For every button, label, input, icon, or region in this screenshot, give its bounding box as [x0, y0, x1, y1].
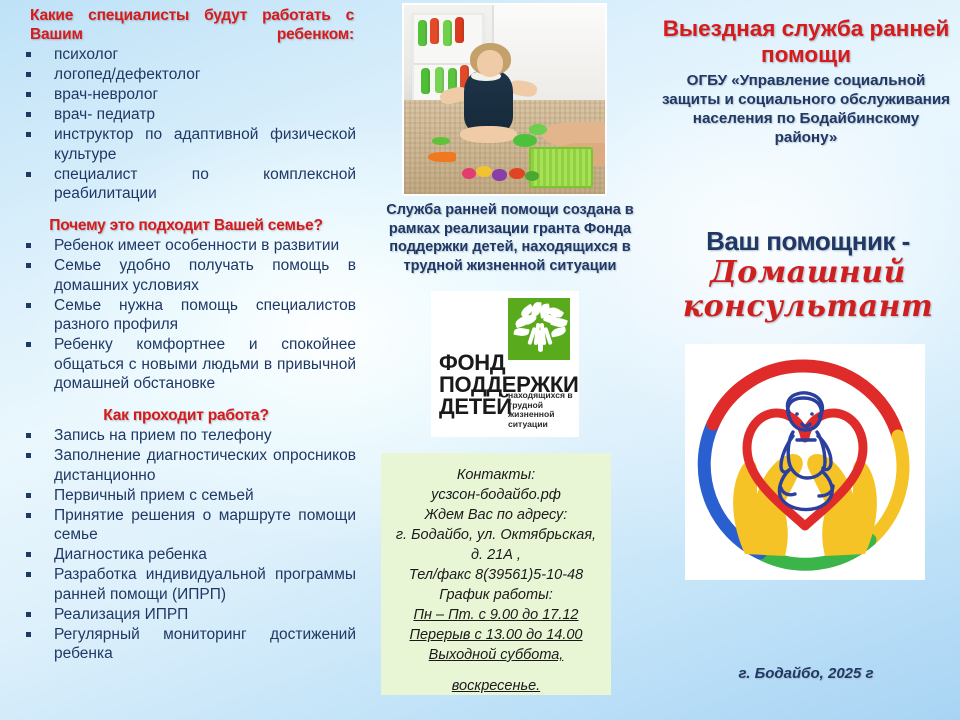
- organization-name: ОГБУ «Управление социальной защиты и соц…: [660, 71, 952, 147]
- square-bullet-icon: [26, 52, 31, 57]
- list-item-label: Принятие решения о маршруте помощи семье: [54, 507, 356, 544]
- list-item-label: Реализация ИПРП: [54, 606, 188, 623]
- contacts-heading: Контакты:: [389, 465, 603, 485]
- square-bullet-icon: [26, 132, 31, 137]
- contacts-schedule-days: Пн – Пт. с 9.00 до 17.12: [389, 605, 603, 625]
- service-title: Выездная служба ранней помощи: [660, 16, 952, 68]
- toy-pin-icon: [455, 17, 464, 43]
- footer-location-year: г. Бодайбо, 2025 г: [660, 665, 952, 682]
- hands-heart-baby-logo: [685, 344, 925, 580]
- contacts-weekend-line-2: воскресенье.: [389, 676, 603, 696]
- toy-food-icon: [513, 134, 537, 147]
- photo-child-face: [477, 50, 503, 76]
- list-item: Ребенок имеет особенности в развитии: [8, 236, 360, 256]
- toy-pin-icon: [418, 20, 427, 46]
- list-item-label: Первичный прием с семьей: [54, 487, 254, 504]
- square-bullet-icon: [26, 263, 31, 268]
- square-bullet-icon: [26, 92, 31, 97]
- list-item: Диагностика ребенка: [8, 545, 360, 565]
- list-item: инструктор по адаптивной физической куль…: [8, 125, 360, 164]
- specialists-section-title: Какие специалисты будут работать с Вашим…: [8, 6, 360, 44]
- list-item-label: логопед/дефектолог: [54, 66, 201, 83]
- list-item: психолог: [8, 45, 360, 65]
- list-item-label: Диагностика ребенка: [54, 546, 207, 563]
- toy-carrot-icon: [428, 152, 456, 161]
- list-item: Заполнение диагностических опросников ди…: [8, 446, 360, 485]
- list-item: Семье нужна помощь специалистов разного …: [8, 296, 360, 335]
- list-item-label: Разработка индивидуальной программы ранн…: [54, 566, 356, 603]
- square-bullet-icon: [26, 433, 31, 438]
- square-bullet-icon: [26, 172, 31, 177]
- contacts-address-line-2: д. 21А ,: [389, 545, 603, 565]
- contacts-weekend-line-1: Выходной суббота,: [389, 645, 603, 665]
- list-item: Разработка индивидуальной программы ранн…: [8, 565, 360, 604]
- right-hand: [807, 454, 877, 556]
- square-bullet-icon: [26, 72, 31, 77]
- contacts-phone[interactable]: Тел/факс 8(39561)5-10-48: [389, 565, 603, 585]
- square-bullet-icon: [26, 243, 31, 248]
- specialists-list: психолог логопед/дефектолог врач-невроло…: [8, 45, 360, 204]
- list-item-label: инструктор по адаптивной физической куль…: [54, 126, 356, 163]
- fund-logo-subtitle: находящихся в трудной жизненной ситуации: [508, 391, 574, 429]
- list-item-label: Заполнение диагностических опросников ди…: [54, 447, 356, 484]
- list-item-label: Семье нужна помощь специалистов разного …: [54, 297, 356, 334]
- list-item-label: врач- педиатр: [54, 106, 155, 123]
- toy-food-icon: [462, 168, 476, 179]
- toy-food-icon: [509, 168, 525, 179]
- photo-child-legs: [460, 126, 516, 143]
- list-item: Реализация ИПРП: [8, 605, 360, 625]
- list-item: логопед/дефектолог: [8, 65, 360, 85]
- list-item: специалист по комплексной реабилитации: [8, 165, 360, 204]
- fund-tree-hand-icon: [508, 298, 570, 360]
- why-list: Ребенок имеет особенности в развитии Сем…: [8, 236, 360, 394]
- child-playing-photo: [404, 5, 605, 194]
- square-bullet-icon: [26, 612, 31, 617]
- how-section-title: Как проходит работа?: [8, 406, 360, 425]
- list-item-label: психолог: [54, 46, 118, 63]
- toy-pin-icon: [435, 67, 444, 93]
- list-item: Принятие решения о маршруте помощи семье: [8, 506, 360, 545]
- slogan-line-2: Домашний: [662, 256, 954, 290]
- hands-heart-baby-icon: [685, 344, 925, 580]
- left-column: Какие специалисты будут работать с Вашим…: [8, 6, 360, 718]
- fund-support-logo: ФОНД ПОДДЕРЖКИ ДЕТЕЙ находящихся в трудн…: [431, 291, 579, 437]
- child-playing-photo-frame: [402, 3, 607, 196]
- why-section-title: Почему это подходит Вашей семье?: [8, 216, 360, 235]
- brochure-page: Какие специалисты будут работать с Вашим…: [0, 0, 960, 720]
- contacts-address-line-1: г. Бодайбо, ул. Октябрьская,: [389, 525, 603, 545]
- list-item: Семье удобно получать помощь в домашних …: [8, 256, 360, 295]
- section-spacer: [8, 394, 360, 406]
- list-item-label: врач-невролог: [54, 86, 158, 103]
- list-item-label: Ребенок имеет особенности в развитии: [54, 237, 339, 254]
- square-bullet-icon: [26, 632, 31, 637]
- square-bullet-icon: [26, 453, 31, 458]
- square-bullet-icon: [26, 552, 31, 557]
- contacts-box: Контакты: усзсон-бодайбо.рф Ждем Вас по …: [381, 453, 611, 695]
- toy-cucumber-icon: [432, 137, 450, 145]
- list-item-label: Регулярный мониторинг достижений ребенка: [54, 626, 356, 663]
- contacts-website[interactable]: усзсон-бодайбо.рф: [389, 485, 603, 505]
- square-bullet-icon: [26, 572, 31, 577]
- list-item-label: Семье удобно получать помощь в домашних …: [54, 257, 356, 294]
- slogan-line-3: консультант: [662, 290, 954, 324]
- slogan-block: Ваш помощник - Домашний консультант: [662, 226, 954, 324]
- list-item: Запись на прием по телефону: [8, 426, 360, 446]
- toy-pin-icon: [421, 68, 430, 94]
- toy-pin-icon: [430, 18, 439, 44]
- contacts-schedule-break: Перерыв с 13.00 до 14.00: [389, 625, 603, 645]
- how-list: Запись на прием по телефону Заполнение д…: [8, 426, 360, 664]
- contacts-address-intro: Ждем Вас по адресу:: [389, 505, 603, 525]
- right-header: Выездная служба ранней помощи ОГБУ «Упра…: [660, 16, 952, 147]
- list-item: Ребенку комфортнее и спокойнее общаться …: [8, 335, 360, 394]
- toy-food-icon: [492, 169, 506, 180]
- list-item-label: Запись на прием по телефону: [54, 427, 272, 444]
- square-bullet-icon: [26, 493, 31, 498]
- section-spacer: [8, 204, 360, 216]
- square-bullet-icon: [26, 112, 31, 117]
- list-item: Первичный прием с семьей: [8, 486, 360, 506]
- square-bullet-icon: [26, 513, 31, 518]
- leaf-icon: [551, 327, 567, 338]
- square-bullet-icon: [26, 342, 31, 347]
- toy-food-icon: [525, 171, 539, 180]
- grant-description: Служба ранней помощи создана в рамках ре…: [366, 201, 654, 275]
- list-item: врач-невролог: [8, 85, 360, 105]
- fund-logo-word-3: ДЕТЕЙ: [439, 394, 512, 420]
- slogan-line-1: Ваш помощник -: [662, 226, 954, 256]
- list-item: врач- педиатр: [8, 105, 360, 125]
- contacts-schedule-heading: График работы:: [389, 585, 603, 605]
- list-item-label: специалист по комплексной реабилитации: [54, 166, 356, 203]
- photo-toy-basket: [529, 147, 593, 189]
- square-bullet-icon: [26, 303, 31, 308]
- leaf-icon: [514, 327, 530, 337]
- list-item-label: Ребенку комфортнее и спокойнее общаться …: [54, 336, 356, 392]
- toy-pin-icon: [443, 20, 452, 46]
- list-item: Регулярный мониторинг достижений ребенка: [8, 625, 360, 664]
